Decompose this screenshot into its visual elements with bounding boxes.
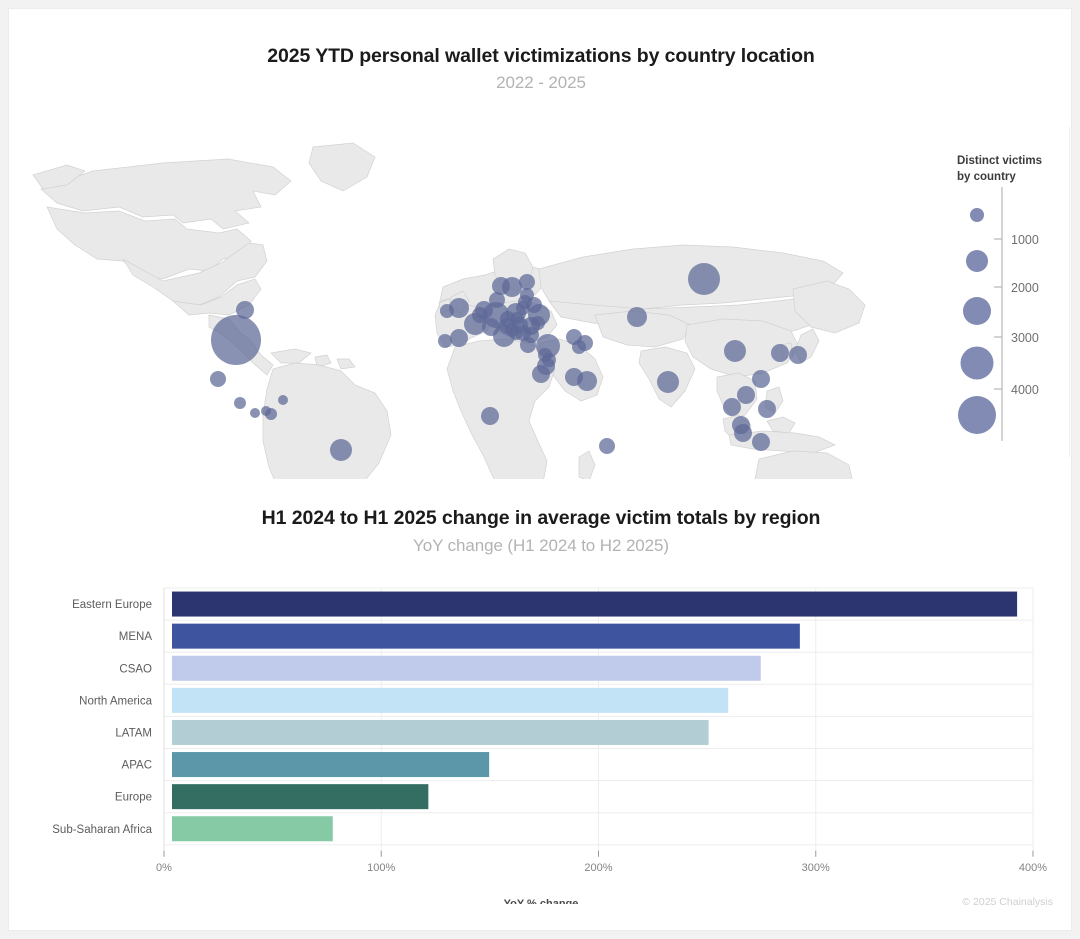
bar-x-axis-title: YoY % change [504,898,579,904]
map-bubble [789,346,807,364]
legend-tick-label: 3000 [1011,331,1039,345]
legend-bubble-small [966,250,988,272]
bar-category-label: North America [79,695,152,707]
legend-title: Distinct victims by country [957,153,1067,185]
bar-rect[interactable] [172,688,728,713]
footer-credit: © 2025 Chainalysis [962,896,1053,908]
bar-x-tick-label: 0% [156,862,172,874]
bar-rect[interactable] [172,816,333,841]
map-bubble [577,371,597,391]
bar-category-label: Sub-Saharan Africa [52,824,152,836]
map-bubble [737,386,755,404]
legend-bubble-large [961,347,994,380]
yoy-change-bar-chart[interactable]: Eastern EuropeMENACSAONorth AmericaLATAM… [9,584,1073,904]
legend-bubble-medium [963,297,991,325]
map-bubble [450,329,468,347]
map-bubble [542,353,556,367]
bar-category-label: LATAM [115,727,152,739]
world-bubble-map[interactable] [23,119,943,479]
report-card: 2025 YTD personal wallet victimizations … [8,8,1072,931]
map-bubble [627,307,647,327]
map-chart-title: 2025 YTD personal wallet victimizations … [9,45,1073,68]
legend-tick-label: 1000 [1011,233,1039,247]
legend-bubble-largest [958,396,996,434]
map-chart-subtitle: 2022 - 2025 [9,73,1073,93]
bar-chart-subtitle: YoY change (H1 2024 to H2 2025) [9,536,1073,556]
bar-x-tick-label: 300% [802,862,830,874]
map-bubble [724,340,746,362]
legend-svg: 1000 2000 3000 4000 [947,183,1067,448]
map-bubble [250,408,260,418]
map-bubble [723,398,741,416]
bar-category-label: CSAO [119,663,152,675]
map-bubble [657,371,679,393]
map-bubble [234,397,246,409]
bar-rect[interactable] [172,656,761,681]
map-bubble [599,438,615,454]
map-bubble [502,277,522,297]
legend-bubble-smallest [970,208,984,222]
bar-rect[interactable] [172,784,428,809]
map-bubble [330,439,352,461]
map-bubble [510,312,524,326]
bar-x-tick-label: 400% [1019,862,1047,874]
bar-rect[interactable] [172,624,800,649]
map-bubble [758,400,776,418]
bar-category-label: Europe [115,792,152,804]
map-bubble [526,297,542,313]
map-size-legend: Distinct victims by country 1000 2000 30… [947,149,1067,449]
bar-chart-title: H1 2024 to H1 2025 change in average vic… [9,507,1073,530]
bar-category-label: Eastern Europe [72,599,152,611]
map-svg [23,119,943,479]
map-bubble [440,304,454,318]
map-bubble [752,370,770,388]
legend-title-line2: by country [957,171,1016,183]
map-bubble [438,334,452,348]
bar-rect[interactable] [172,752,489,777]
map-bubble [236,301,254,319]
legend-tick-label: 4000 [1011,383,1039,397]
bar-x-axis: 0%100%200%300%400% [156,851,1047,874]
legend-divider [1069,127,1070,457]
map-bubble [771,344,789,362]
legend-title-line1: Distinct victims [957,155,1042,167]
bar-chart-svg: Eastern EuropeMENACSAONorth AmericaLATAM… [9,584,1073,904]
map-bubble [531,316,545,330]
map-bubble [752,433,770,451]
map-bubble [278,395,288,405]
bar-category-label: APAC [122,760,152,772]
map-bubble [734,424,752,442]
bar-category-labels: Eastern EuropeMENACSAONorth AmericaLATAM… [52,599,152,836]
map-bubble [265,408,277,420]
map-bubble [688,263,720,295]
bar-x-tick-label: 200% [584,862,612,874]
bar-x-tick-label: 100% [367,862,395,874]
bar-rect[interactable] [172,592,1017,617]
map-bubble [519,274,535,290]
map-bubble [520,337,536,353]
map-bubble [211,315,261,365]
map-bubble [532,365,550,383]
legend-tick-label: 2000 [1011,281,1039,295]
bar-category-label: MENA [119,631,153,643]
map-bubble [572,340,586,354]
screenshot-root: 2025 YTD personal wallet victimizations … [0,0,1080,939]
map-bubble [210,371,226,387]
bar-rect[interactable] [172,720,709,745]
map-bubble [481,407,499,425]
